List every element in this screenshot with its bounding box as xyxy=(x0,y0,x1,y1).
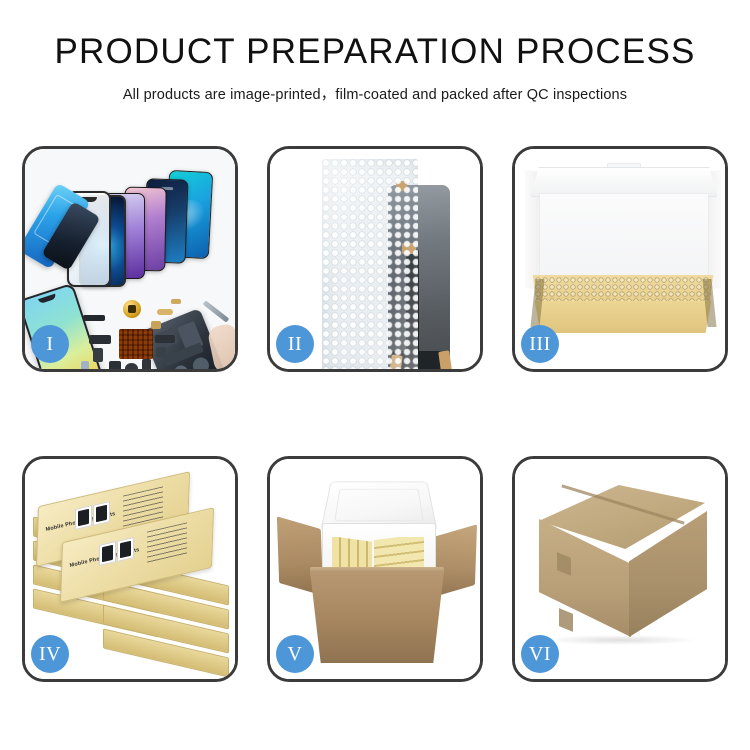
bubble-wrap-sleeve xyxy=(322,159,418,369)
box-front-wall xyxy=(527,301,719,333)
logic-board xyxy=(119,329,153,359)
spare-part xyxy=(93,348,103,362)
spare-part xyxy=(156,347,166,357)
box-thumbnail xyxy=(75,505,92,530)
spare-part xyxy=(83,315,105,321)
screw xyxy=(227,367,232,369)
step-badge-3: III xyxy=(521,325,559,363)
box-thumbnail xyxy=(99,541,116,566)
step-card-6[interactable]: VI xyxy=(512,456,728,682)
step-card-5[interactable]: V xyxy=(267,456,483,682)
step-badge-2: II xyxy=(276,325,314,363)
step-badge-4: IV xyxy=(31,635,69,673)
page-title: PRODUCT PREPARATION PROCESS xyxy=(0,34,750,71)
foam-back-panel xyxy=(539,193,709,283)
housing-detail xyxy=(191,355,212,369)
speaker-module xyxy=(123,300,141,318)
box-thumbnail xyxy=(117,537,134,562)
spare-part xyxy=(151,321,161,329)
spare-part xyxy=(81,361,89,369)
spare-part xyxy=(89,335,111,344)
process-step-grid: I II xyxy=(0,136,750,686)
page-subtitle: All products are image-printed，film-coat… xyxy=(0,83,750,104)
step-badge-5: V xyxy=(276,635,314,673)
spare-part xyxy=(125,363,138,369)
step-badge-6: VI xyxy=(521,635,559,673)
spare-part xyxy=(142,359,151,369)
spare-part xyxy=(171,299,181,304)
spare-part xyxy=(157,309,173,315)
page-header: PRODUCT PREPARATION PROCESS All products… xyxy=(0,0,750,104)
spare-part xyxy=(109,361,121,369)
bubble-texture xyxy=(322,159,418,369)
carton-shadow xyxy=(545,635,695,645)
foam-insert xyxy=(535,277,711,303)
carton-body xyxy=(310,571,444,663)
step-badge-1: I xyxy=(31,325,69,363)
spare-part xyxy=(155,335,175,343)
step-card-2[interactable]: II xyxy=(267,146,483,372)
box-thumbnail xyxy=(93,501,110,526)
step-card-3[interactable]: III xyxy=(512,146,728,372)
housing-detail xyxy=(172,363,190,369)
step-card-4[interactable]: Mobile Phone Spare Parts Mobile Phone Sp… xyxy=(22,456,238,682)
step-card-1[interactable]: I xyxy=(22,146,238,372)
